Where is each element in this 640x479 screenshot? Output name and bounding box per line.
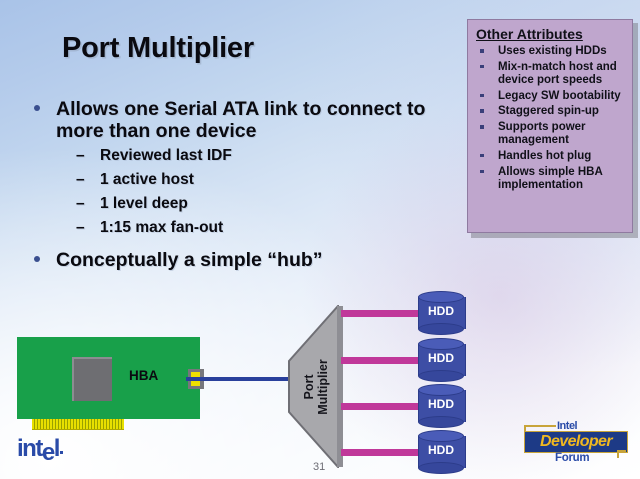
- sata-link-1: [341, 310, 422, 317]
- bullet-text: 1 active host: [100, 171, 194, 188]
- sata-link-3: [341, 403, 422, 410]
- dash-icon: –: [76, 216, 85, 240]
- hdd-drive-1: HDD: [418, 291, 464, 335]
- square-bullet-icon: [480, 49, 484, 53]
- attribute-label: Allows simple HBA implementation: [498, 166, 602, 191]
- attribute-label: Mix-n-match host and device port speeds: [498, 61, 617, 86]
- attribute-label: Staggered spin-up: [498, 105, 599, 117]
- attribute-item: Allows simple HBA implementation: [476, 166, 626, 192]
- intel-logo: intel: [17, 435, 63, 463]
- hba-label: HBA: [129, 368, 158, 383]
- cylinder-bottom: [418, 370, 464, 382]
- square-bullet-icon: [480, 154, 484, 158]
- attribute-item: Legacy SW bootability: [476, 90, 626, 103]
- cylinder-bottom: [418, 416, 464, 428]
- cylinder-top: [418, 338, 464, 350]
- hdd-drive-3: HDD: [418, 384, 464, 428]
- idf-logo-tick-right: [617, 450, 619, 458]
- idf-logo-developer: Developer: [540, 433, 612, 451]
- cylinder-bottom: [418, 462, 464, 474]
- bullet-level2-2: – 1 level deep: [28, 192, 458, 216]
- hba-chip-icon: [72, 357, 112, 401]
- bullet-level1-0: Allows one Serial ATA link to connect to…: [28, 98, 458, 142]
- square-bullet-icon: [480, 170, 484, 174]
- attribute-item: Supports power management: [476, 121, 626, 147]
- bullet-dot-icon: [34, 105, 40, 111]
- attribute-label: Handles hot plug: [498, 150, 591, 162]
- idf-logo-developer-panel: Developer: [524, 431, 628, 453]
- bullet-level2-0: – Reviewed last IDF: [28, 144, 458, 168]
- square-bullet-icon: [480, 125, 484, 129]
- bullet-dot-icon: [34, 256, 40, 262]
- sata-cable: [186, 377, 289, 381]
- cylinder-bottom: [418, 323, 464, 335]
- attribute-item: Mix-n-match host and device port speeds: [476, 61, 626, 87]
- hdd-label: HDD: [418, 443, 464, 457]
- port-multiplier-label: PortMultiplier: [288, 305, 344, 468]
- bullet-list: Allows one Serial ATA link to connect to…: [28, 98, 458, 273]
- other-attributes-box: Other Attributes Uses existing HDDs Mix-…: [467, 19, 633, 233]
- bullet-text: Allows one Serial ATA link to connect to…: [56, 98, 425, 142]
- hdd-label: HDD: [418, 351, 464, 365]
- bullet-level2-1: – 1 active host: [28, 168, 458, 192]
- attribute-label: Supports power management: [498, 121, 586, 146]
- sata-link-4: [341, 449, 422, 456]
- page-number: 31: [313, 461, 325, 473]
- square-bullet-icon: [480, 65, 484, 69]
- port-multiplier-shape: PortMultiplier: [288, 305, 344, 468]
- other-attributes-title: Other Attributes: [476, 26, 632, 42]
- idf-logo: Intel Developer Forum: [521, 419, 629, 469]
- dash-icon: –: [76, 144, 85, 168]
- bullet-text: Conceptually a simple “hub”: [56, 249, 323, 271]
- idf-logo-forum: Forum: [555, 452, 589, 464]
- square-bullet-icon: [480, 109, 484, 113]
- cylinder-top: [418, 430, 464, 442]
- hdd-label: HDD: [418, 304, 464, 318]
- attribute-label: Legacy SW bootability: [498, 90, 621, 102]
- idf-logo-rule-top: [524, 425, 556, 427]
- hba-card-graphic: HBA: [17, 337, 200, 419]
- hdd-drive-4: HDD: [418, 430, 464, 474]
- attribute-item: Handles hot plug: [476, 150, 626, 163]
- attribute-item: Uses existing HDDs: [476, 45, 626, 58]
- bullet-level1-1: Conceptually a simple “hub”: [28, 249, 458, 271]
- hdd-label: HDD: [418, 397, 464, 411]
- bullet-text: Reviewed last IDF: [100, 147, 232, 164]
- cylinder-top: [418, 384, 464, 396]
- bullet-text: 1 level deep: [100, 195, 188, 212]
- sata-link-2: [341, 357, 422, 364]
- square-bullet-icon: [480, 94, 484, 98]
- dash-icon: –: [76, 168, 85, 192]
- bullet-level2-3: – 1:15 max fan-out: [28, 216, 458, 240]
- attribute-label: Uses existing HDDs: [498, 45, 607, 57]
- attribute-item: Staggered spin-up: [476, 105, 626, 118]
- other-attributes-list: Uses existing HDDs Mix-n-match host and …: [468, 45, 632, 192]
- cylinder-top: [418, 291, 464, 303]
- dash-icon: –: [76, 192, 85, 216]
- slide-canvas: Port Multiplier Allows one Serial ATA li…: [0, 0, 640, 479]
- page-title: Port Multiplier: [62, 32, 254, 65]
- hdd-drive-2: HDD: [418, 338, 464, 382]
- bullet-text: 1:15 max fan-out: [100, 219, 223, 236]
- pci-gold-fingers-icon: [32, 419, 124, 430]
